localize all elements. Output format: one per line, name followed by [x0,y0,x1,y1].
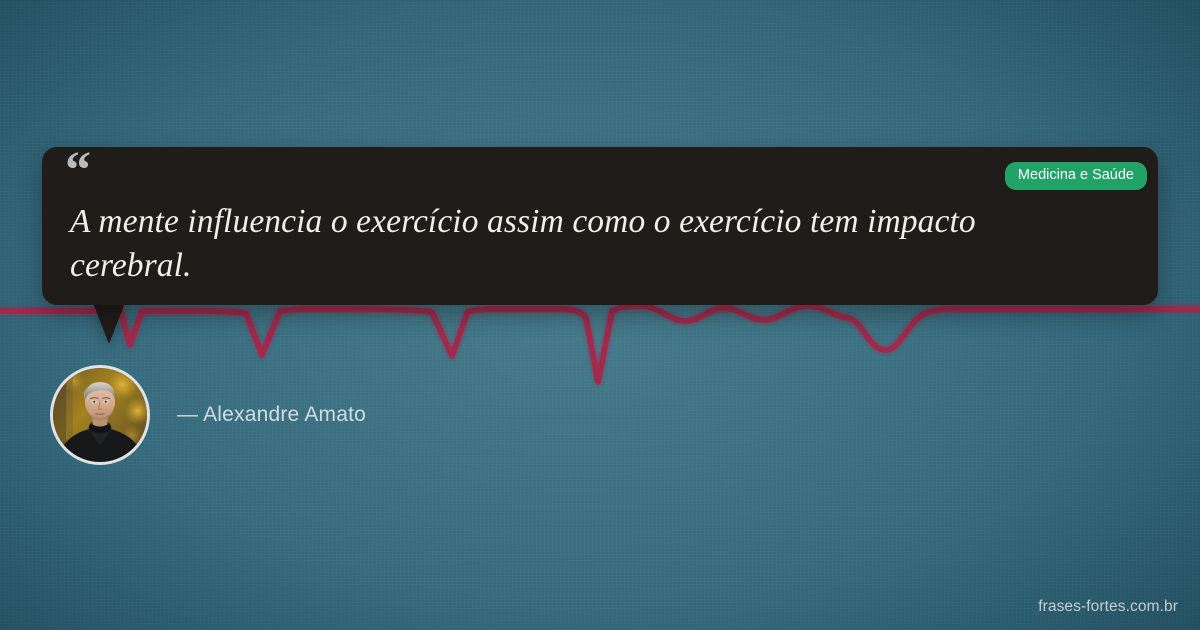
quote-card-tail [93,303,125,344]
author-avatar [50,365,150,465]
quote-open-mark: “ [65,145,92,197]
quote-card: “ A mente influencia o exercício assim c… [42,147,1158,305]
quote-text: A mente influencia o exercício assim com… [70,200,1008,288]
author-avatar-photo [53,368,147,462]
author-name: — Alexandre Amato [177,403,366,427]
background-vignette [0,0,1200,630]
category-badge[interactable]: Medicina e Saúde [1005,162,1147,190]
quote-card-image: “ A mente influencia o exercício assim c… [0,0,1200,630]
site-watermark: frases-fortes.com.br [1038,598,1178,616]
author-row: — Alexandre Amato [50,365,366,465]
